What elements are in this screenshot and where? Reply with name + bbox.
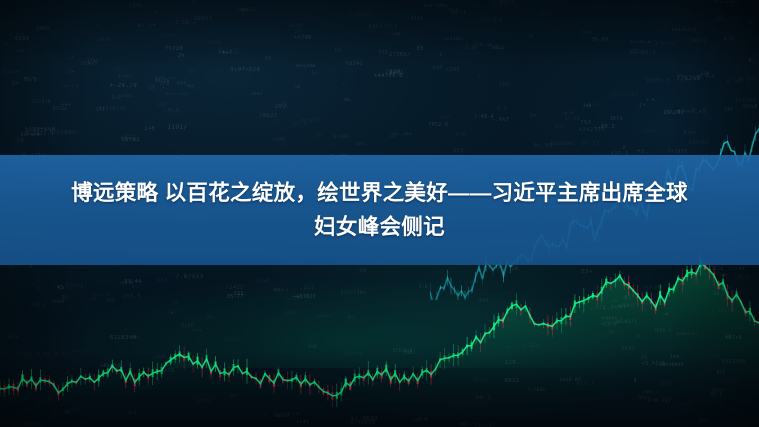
headline-banner: 博远策略 以百花之绽放，绘世界之美好——习近平主席出席全球 妇女峰会侧记	[0, 155, 759, 265]
headline-line-2: 妇女峰会侧记	[14, 210, 745, 244]
headline-line-1: 博远策略 以百花之绽放，绘世界之美好——习近平主席出席全球	[14, 176, 745, 210]
headline-text: 博远策略 以百花之绽放，绘世界之美好——习近平主席出席全球 妇女峰会侧记	[14, 176, 745, 244]
promo-banner-image: 89++6.+53853./74+74765/3652+71.094+96740…	[0, 0, 759, 427]
